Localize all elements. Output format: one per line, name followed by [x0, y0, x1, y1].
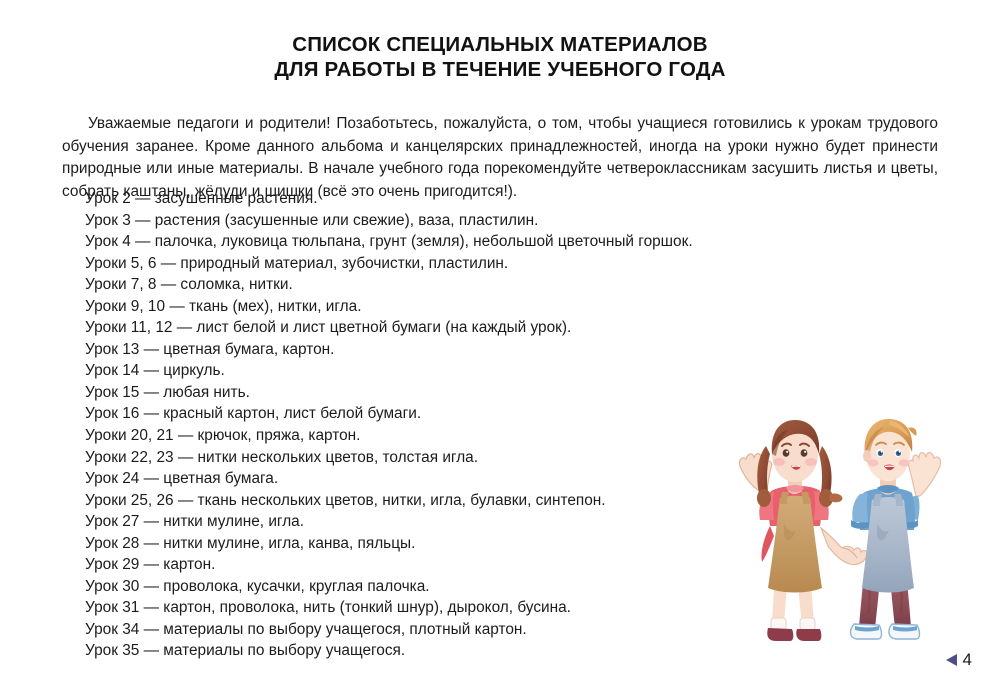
lesson-list-item: Уроки 5, 6 — природный материал, зубочис…	[85, 253, 905, 275]
lesson-list-item: Урок 3 — растения (засушенные или свежие…	[85, 210, 905, 232]
lesson-list-item: Урок 16 — красный картон, лист белой бум…	[85, 403, 905, 425]
lesson-materials-list: Урок 2 — засушенные растения.Урок 3 — ра…	[85, 188, 905, 662]
lesson-list-item: Урок 29 — картон.	[85, 554, 905, 576]
lesson-list-item: Уроки 22, 23 — нитки нескольких цветов, …	[85, 447, 905, 469]
lesson-list-item: Уроки 20, 21 — крючок, пряжа, картон.	[85, 425, 905, 447]
lesson-list-item: Урок 4 — палочка, луковица тюльпана, гру…	[85, 231, 905, 253]
page-marker: 4	[946, 651, 972, 668]
lesson-list-item: Урок 27 — нитки мулине, игла.	[85, 511, 905, 533]
page-title-line-2: ДЛЯ РАБОТЫ В ТЕЧЕНИЕ УЧЕБНОГО ГОДА	[0, 57, 1000, 82]
lesson-list-item: Урок 2 — засушенные растения.	[85, 188, 905, 210]
lesson-list-item: Уроки 9, 10 — ткань (мех), нитки, игла.	[85, 296, 905, 318]
lesson-list-item: Урок 24 — цветная бумага.	[85, 468, 905, 490]
page-title-line-1: СПИСОК СПЕЦИАЛЬНЫХ МАТЕРИАЛОВ	[0, 32, 1000, 57]
triangle-left-icon	[946, 654, 957, 666]
lesson-list-item: Урок 30 — проволока, кусачки, круглая па…	[85, 576, 905, 598]
lesson-list-item: Урок 13 — цветная бумага, картон.	[85, 339, 905, 361]
document-page: СПИСОК СПЕЦИАЛЬНЫХ МАТЕРИАЛОВ ДЛЯ РАБОТЫ…	[0, 0, 1000, 690]
lesson-list-item: Урок 15 — любая нить.	[85, 382, 905, 404]
page-title: СПИСОК СПЕЦИАЛЬНЫХ МАТЕРИАЛОВ ДЛЯ РАБОТЫ…	[0, 32, 1000, 82]
lesson-list-item: Урок 28 — нитки мулине, игла, канва, пял…	[85, 533, 905, 555]
lesson-list-item: Урок 35 — материалы по выбору учащегося.	[85, 640, 905, 662]
lesson-list-item: Урок 14 — циркуль.	[85, 360, 905, 382]
lesson-list-item: Урок 31 — картон, проволока, нить (тонки…	[85, 597, 905, 619]
lesson-list-item: Уроки 25, 26 — ткань нескольких цветов, …	[85, 490, 905, 512]
lesson-list-item: Уроки 11, 12 — лист белой и лист цветной…	[85, 317, 905, 339]
lesson-list-item: Урок 34 — материалы по выбору учащегося,…	[85, 619, 905, 641]
lesson-list-item: Уроки 7, 8 — соломка, нитки.	[85, 274, 905, 296]
page-number: 4	[963, 651, 972, 668]
